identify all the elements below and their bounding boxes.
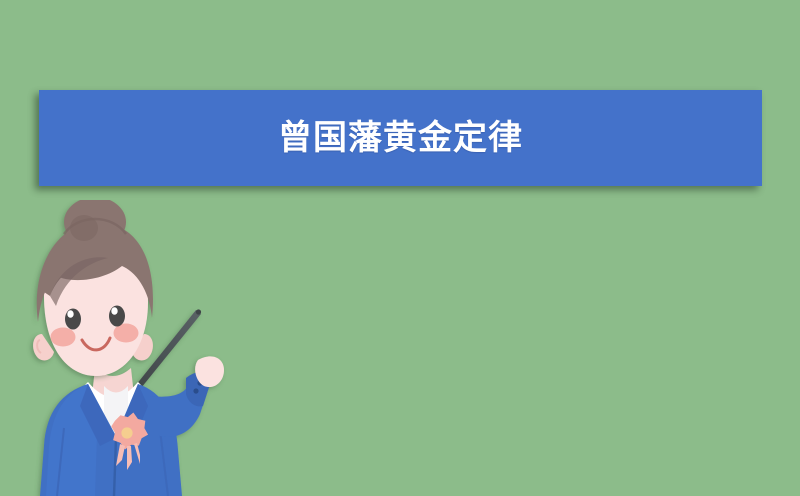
teacher-body [40,356,224,496]
title-banner: 曾国藩黄金定律 [39,90,762,186]
blush-left [51,328,76,347]
cuff-button [193,388,198,393]
page-title: 曾国藩黄金定律 [278,121,523,155]
eye-right [109,306,125,327]
slide-canvas: 曾国藩黄金定律 [0,0,800,496]
teacher-illustration [0,200,260,496]
eye-left [65,309,81,330]
teacher-head [33,200,153,376]
